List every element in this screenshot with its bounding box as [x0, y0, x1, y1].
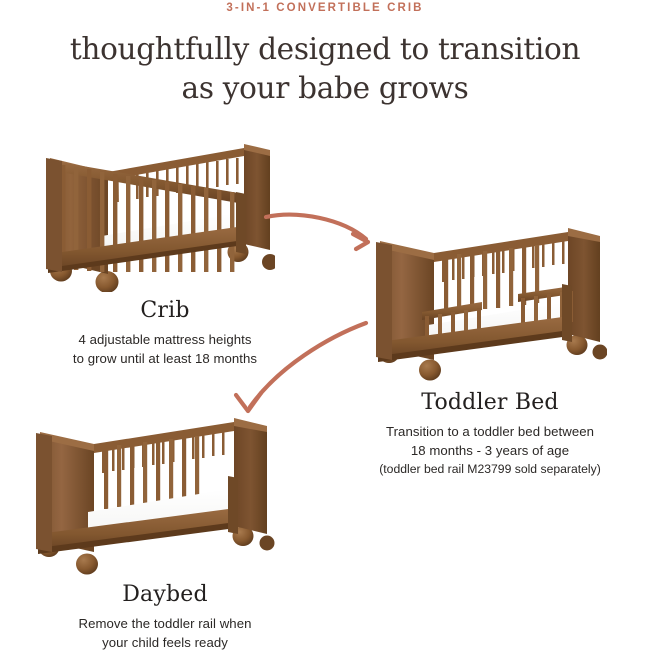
toddler-right-panel: [568, 232, 600, 342]
toddler-bed-title: Toddler Bed: [340, 390, 640, 415]
caption-crib: Crib 4 adjustable mattress heights to gr…: [20, 298, 310, 368]
daybed-title: Daybed: [20, 582, 310, 607]
headline-line-2: as your babe grows: [0, 69, 650, 108]
crib-corner-post-right: [236, 192, 246, 254]
toddler-bed-note: (toddler bed rail M23799 sold separately…: [340, 460, 640, 478]
page-title: thoughtfully designed to transition as y…: [0, 30, 650, 108]
crib-corner-post-left: [46, 158, 62, 272]
crib-desc-line-1: 4 adjustable mattress heights: [20, 330, 310, 349]
crib-title: Crib: [20, 298, 310, 323]
toddler-bed-illustration: [372, 222, 607, 387]
caption-daybed: Daybed Remove the toddler rail when your…: [20, 582, 310, 652]
eyebrow-label: 3-IN-1 CONVERTIBLE CRIB: [0, 2, 650, 14]
crib-illustration: [30, 132, 275, 292]
daybed-desc-line-2: your child feels ready: [20, 633, 310, 652]
arrow-crib-to-toddler: [258, 205, 388, 255]
toddler-corner-post-left: [376, 242, 392, 360]
daybed-desc-line-1: Remove the toddler rail when: [20, 614, 310, 633]
toddler-bed-desc-line-1: Transition to a toddler bed between: [340, 422, 640, 441]
toddler-corner-post-right: [562, 284, 572, 342]
daybed-illustration: [30, 412, 275, 577]
crib-desc-line-2: to grow until at least 18 months: [20, 349, 310, 368]
daybed-corner-post-left: [36, 433, 52, 552]
toddler-bed-desc-line-2: 18 months - 3 years of age: [340, 441, 640, 460]
caption-toddler-bed: Toddler Bed Transition to a toddler bed …: [340, 390, 640, 479]
headline-line-1: thoughtfully designed to transition: [70, 32, 580, 66]
daybed-right-panel: [234, 422, 267, 534]
daybed-corner-post-right: [228, 476, 238, 534]
infographic-canvas: 3-IN-1 CONVERTIBLE CRIB thoughtfully des…: [0, 0, 650, 650]
